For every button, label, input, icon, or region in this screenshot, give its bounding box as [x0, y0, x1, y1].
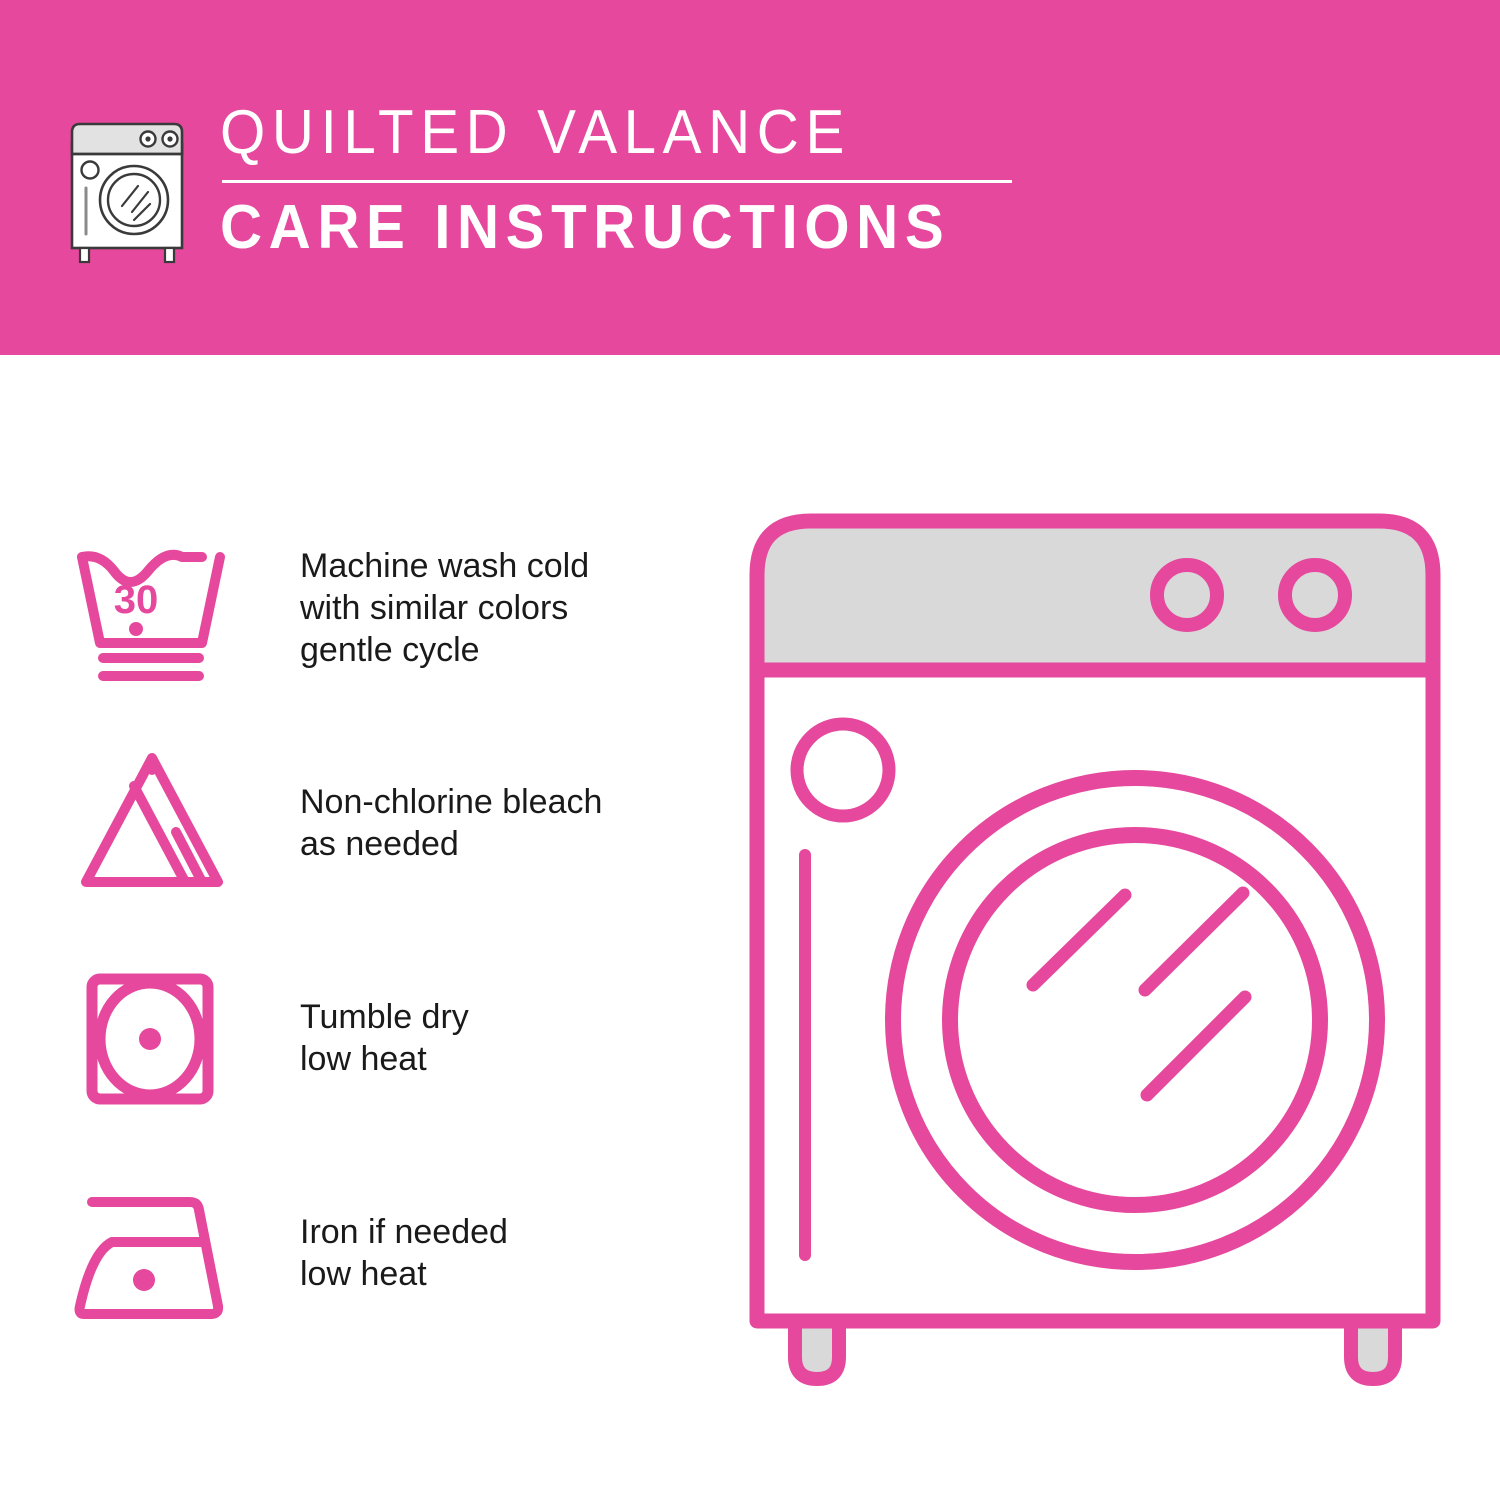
care-line: Non-chlorine bleach: [300, 781, 602, 823]
washing-machine-icon: [62, 108, 192, 268]
care-row-machine-wash: 30 Machine wash cold with similar colors…: [70, 500, 700, 715]
care-text-machine-wash: Machine wash cold with similar colors ge…: [300, 545, 589, 671]
iron-icon: [70, 1170, 235, 1335]
washing-machine-illustration: [735, 495, 1455, 1415]
page-subtitle: CARE INSTRUCTIONS: [220, 195, 964, 261]
wash-temperature-label: 30: [114, 578, 159, 622]
care-instruction-list: 30 Machine wash cold with similar colors…: [70, 500, 700, 1360]
care-line: Tumble dry: [300, 996, 469, 1038]
care-text-bleach: Non-chlorine bleach as needed: [300, 781, 602, 865]
care-line: Iron if needed: [300, 1211, 508, 1253]
care-row-bleach: Non-chlorine bleach as needed: [70, 715, 700, 930]
care-line: as needed: [300, 823, 602, 865]
control-panel: [757, 521, 1433, 670]
care-text-iron: Iron if needed low heat: [300, 1211, 508, 1295]
care-line: Machine wash cold: [300, 545, 589, 587]
care-line: gentle cycle: [300, 629, 589, 671]
tumble-dry-icon: [70, 955, 235, 1120]
care-row-iron: Iron if needed low heat: [70, 1145, 700, 1360]
care-line: low heat: [300, 1253, 508, 1295]
care-line: with similar colors: [300, 587, 589, 629]
header-content: QUILTED VALANCE CARE INSTRUCTIONS: [62, 100, 1012, 268]
page-title: QUILTED VALANCE: [220, 100, 964, 166]
header-banner: QUILTED VALANCE CARE INSTRUCTIONS: [0, 0, 1500, 355]
title-divider: [222, 180, 1012, 183]
bleach-triangle-icon: [70, 740, 235, 905]
care-text-tumble-dry: Tumble dry low heat: [300, 996, 469, 1080]
care-line: low heat: [300, 1038, 469, 1080]
header-title-group: QUILTED VALANCE CARE INSTRUCTIONS: [220, 100, 1012, 261]
care-row-tumble-dry: Tumble dry low heat: [70, 930, 700, 1145]
wash-tub-30-icon: 30: [70, 525, 235, 690]
